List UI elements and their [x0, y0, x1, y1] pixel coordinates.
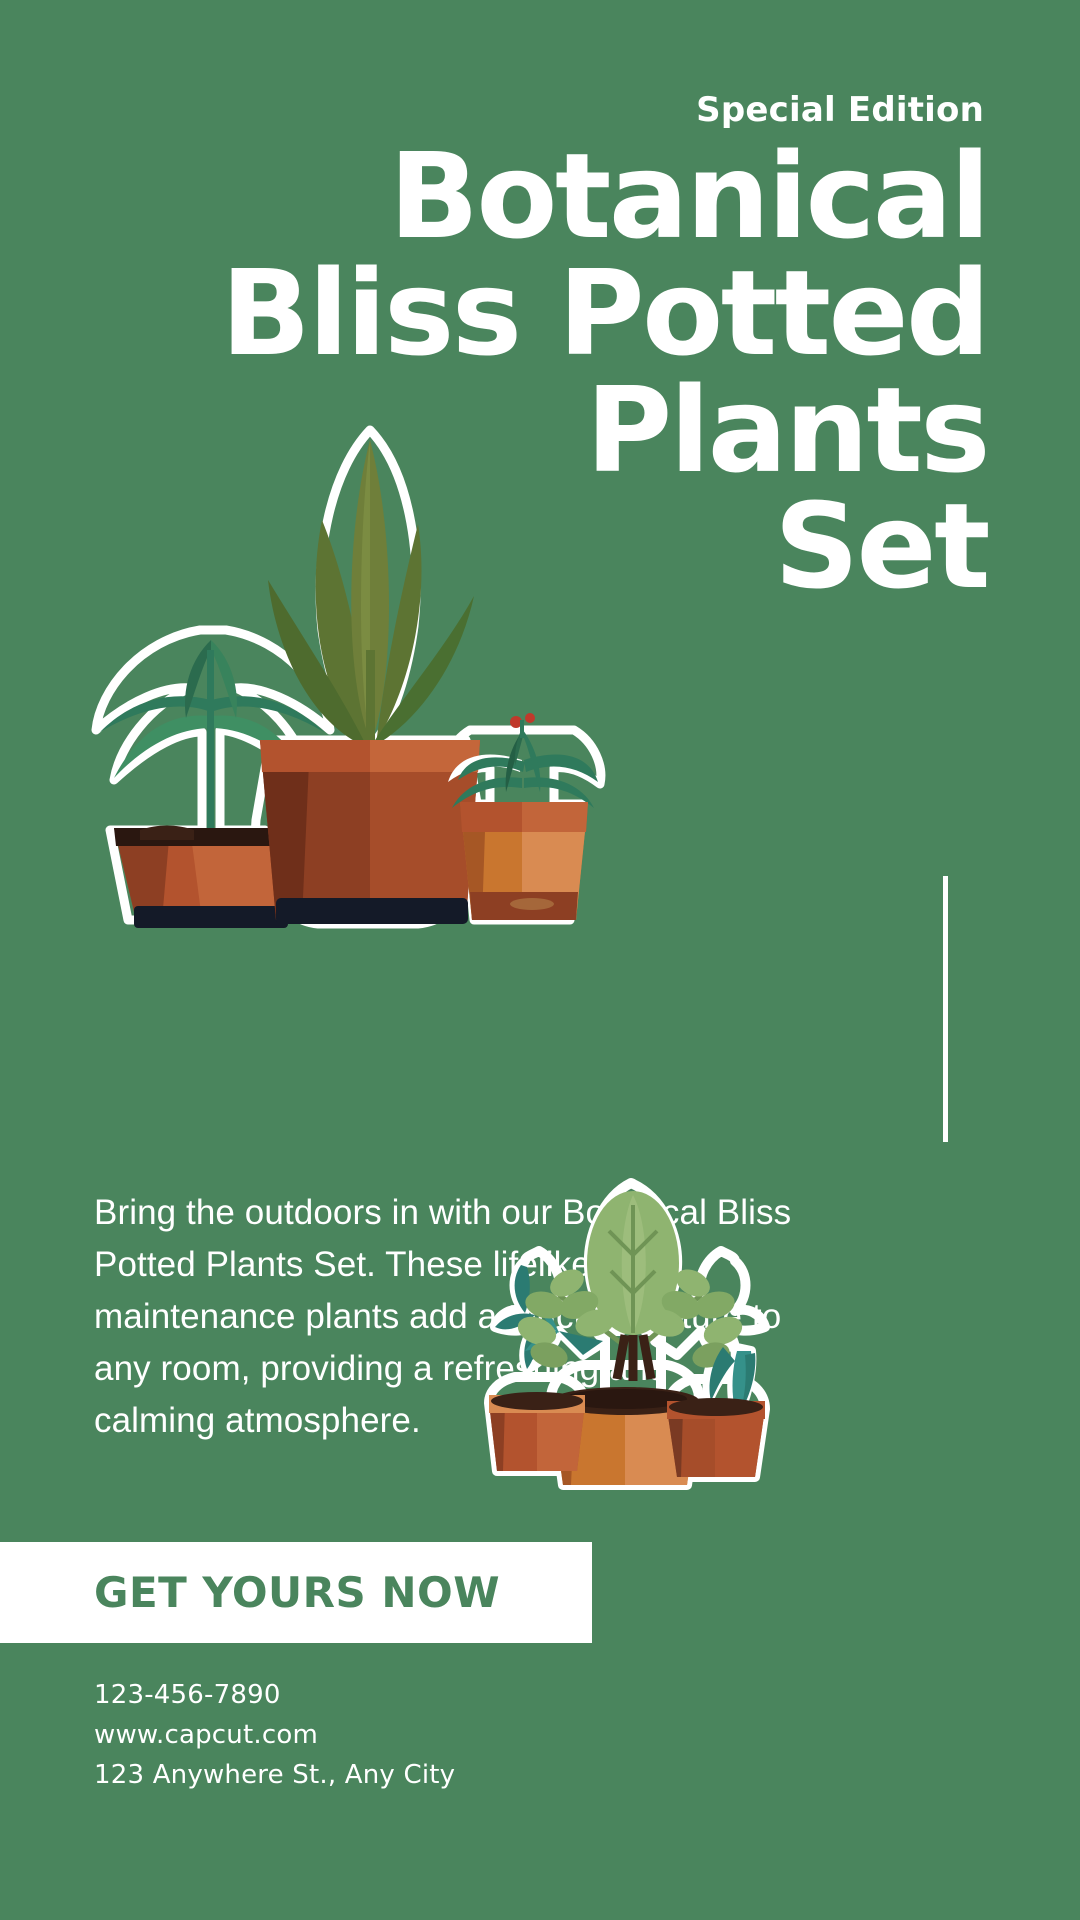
- title-line-2: Bliss Potted: [60, 255, 988, 372]
- pot-bottom-left: [489, 1392, 585, 1471]
- eyebrow-special-edition: Special Edition: [696, 93, 984, 127]
- contact-phone[interactable]: 123-456-7890: [94, 1675, 455, 1715]
- cta-banner[interactable]: GET YOURS NOW: [0, 1542, 592, 1643]
- contact-info: 123-456-7890 www.capcut.com 123 Anywhere…: [94, 1675, 455, 1795]
- contact-address: 123 Anywhere St., Any City: [94, 1755, 455, 1795]
- potted-plants-illustration: [70, 400, 670, 960]
- poster-canvas: Special Edition Botanical Bliss Potted P…: [0, 0, 1080, 1920]
- get-yours-now-button[interactable]: GET YOURS NOW: [94, 1568, 500, 1617]
- title-line-1: Botanical: [60, 138, 988, 255]
- vertical-rule-divider: [943, 876, 948, 1142]
- plant-center: [260, 440, 480, 924]
- contact-website[interactable]: www.capcut.com: [94, 1715, 455, 1755]
- potted-plants-illustration-small: [455, 1155, 785, 1485]
